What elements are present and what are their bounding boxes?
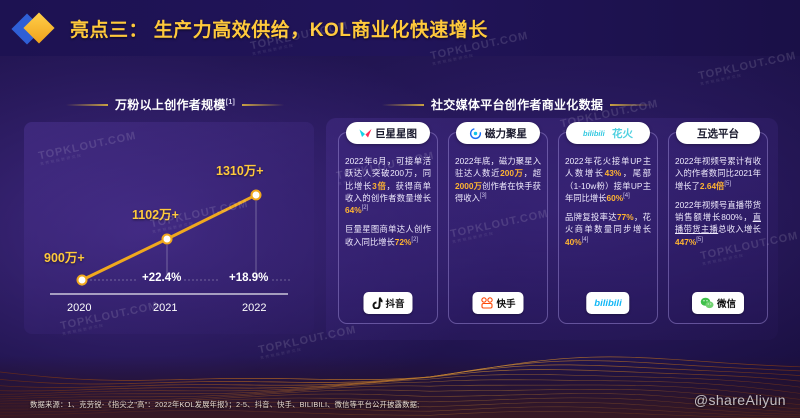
slide-root: 亮点三： 生产力高效供给，KOL商业化快速增长 万粉以上创作者规模[1] 社交媒… xyxy=(0,0,800,418)
card-badge-label: 快手 xyxy=(496,296,515,310)
card-badge-douyin: 抖音 xyxy=(363,292,412,314)
chart-value-label-2020: 900万+ xyxy=(44,247,85,266)
footnote: 数据来源：1、克劳锐-《指尖之"高"：2022年KOL发展年报》；2-5、抖音、… xyxy=(30,400,419,410)
card-paragraph: 巨量星图商单达人创作收入同比增长72%[2] xyxy=(345,223,431,248)
card-body-huahuo: 2022年花火接单UP主人数增长43%，尾部（1-10w粉）接单UP主年同比增长… xyxy=(565,155,651,255)
card-pill-huahuo: bilibili 花火 xyxy=(566,122,650,144)
right-section-title: 社交媒体平台创作者商业化数据 xyxy=(431,96,603,113)
chart-xtick-2021: 2021 xyxy=(153,302,177,314)
bottom-right-watermark: @shareAliyun xyxy=(694,392,786,408)
card-pill-huxuan: 互选平台 xyxy=(676,122,760,144)
card-pill-xingtu: 巨星星图 xyxy=(346,122,430,144)
diamond-icon xyxy=(14,11,70,45)
svg-text:bilibili: bilibili xyxy=(583,129,606,138)
card-paragraph: 2022年6月，可接单活跃达人突破200万，同比增长3倍，获得商单收入的创作者数… xyxy=(345,155,431,216)
card-paragraph: 品牌复投率达77%，花火商单数量同步增长40%[4] xyxy=(565,211,651,248)
card-body-xingtu: 2022年6月，可接单活跃达人突破200万，同比增长3倍，获得商单收入的创作者数… xyxy=(345,155,431,255)
card-badge-label: bilibili xyxy=(594,298,621,309)
wechat-icon xyxy=(700,297,714,309)
right-section-header: 社交媒体平台创作者商业化数据 xyxy=(382,96,652,113)
platform-cards-panel: 巨星星图 2022年6月，可接单活跃达人突破200万，同比增长3倍，获得商单收入… xyxy=(326,118,778,340)
page-title: 亮点三： 生产力高效供给，KOL商业化快速增长 xyxy=(70,15,488,42)
chart-growth-label-2021: +22.4% xyxy=(142,272,181,284)
card-paragraph: 2022年视频号累计有收入的作者数同比2021年增长了2.64倍[5] xyxy=(675,155,761,192)
douyin-icon xyxy=(371,297,382,309)
right-rule-start xyxy=(382,104,424,106)
chart-xtick-2020: 2020 xyxy=(67,302,91,314)
chart-growth-label-2022: +18.9% xyxy=(229,272,268,284)
card-pill-label-cili: 磁力聚星 xyxy=(485,126,527,141)
left-section-header: 万粉以上创作者规模[1] xyxy=(66,96,284,113)
card-badge-label: 微信 xyxy=(717,296,736,310)
card-paragraph: 2022年底，磁力聚星入驻达人数近200万，超2000万创作者在快手获得收入[3… xyxy=(455,155,541,204)
platform-card-xingtu[interactable]: 巨星星图 2022年6月，可接单活跃达人突破200万，同比增长3倍，获得商单收入… xyxy=(338,132,438,324)
card-body-cili: 2022年底，磁力聚星入驻达人数近200万，超2000万创作者在快手获得收入[3… xyxy=(455,155,541,211)
kuaishou-cili-icon xyxy=(469,127,482,140)
douyin-xingtu-icon xyxy=(359,128,372,139)
card-pill-label-huahuo: 花火 xyxy=(612,126,633,141)
chart-xtick-2022: 2022 xyxy=(242,302,266,314)
card-pill-label-xingtu: 巨星星图 xyxy=(375,126,417,141)
chart-value-label-2021: 1102万+ xyxy=(132,204,179,223)
card-badge-label: 抖音 xyxy=(385,296,404,310)
card-pill-cili: 磁力聚星 xyxy=(456,122,540,144)
card-body-huxuan: 2022年视频号累计有收入的作者数同比2021年增长了2.64倍[5] 2022… xyxy=(675,155,761,255)
bilibili-huahuo-icon: bilibili xyxy=(583,128,609,139)
creator-scale-chart: 900万+ 1102万+ 1310万+ +22.4% +18.9% 2020 2… xyxy=(24,122,314,334)
card-pill-label-huxuan: 互选平台 xyxy=(697,126,739,141)
card-badge-bilibili: bilibili xyxy=(586,292,629,314)
card-paragraph: 2022年视频号直播带货销售额增长800%，直播带货主播总收入增长447%[5] xyxy=(675,199,761,248)
kuaishou-icon xyxy=(480,297,493,309)
platform-card-huxuan[interactable]: 互选平台 2022年视频号累计有收入的作者数同比2021年增长了2.64倍[5]… xyxy=(668,132,768,324)
left-section-title: 万粉以上创作者规模[1] xyxy=(115,96,235,113)
card-badge-kuaishou: 快手 xyxy=(472,292,523,314)
platform-card-cili[interactable]: 磁力聚星 2022年底，磁力聚星入驻达人数近200万，超2000万创作者在快手获… xyxy=(448,132,548,324)
platform-card-huahuo[interactable]: bilibili 花火 2022年花火接单UP主人数增长43%，尾部（1-10w… xyxy=(558,132,658,324)
slide-header: 亮点三： 生产力高效供给，KOL商业化快速增长 xyxy=(0,0,800,56)
left-rule-start xyxy=(66,104,108,106)
card-paragraph: 2022年花火接单UP主人数增长43%，尾部（1-10w粉）接单UP主年同比增长… xyxy=(565,155,651,204)
left-rule-end xyxy=(242,104,284,106)
chart-value-label-2022: 1310万+ xyxy=(216,160,264,179)
right-rule-end xyxy=(610,104,652,106)
card-badge-wechat: 微信 xyxy=(692,292,744,314)
